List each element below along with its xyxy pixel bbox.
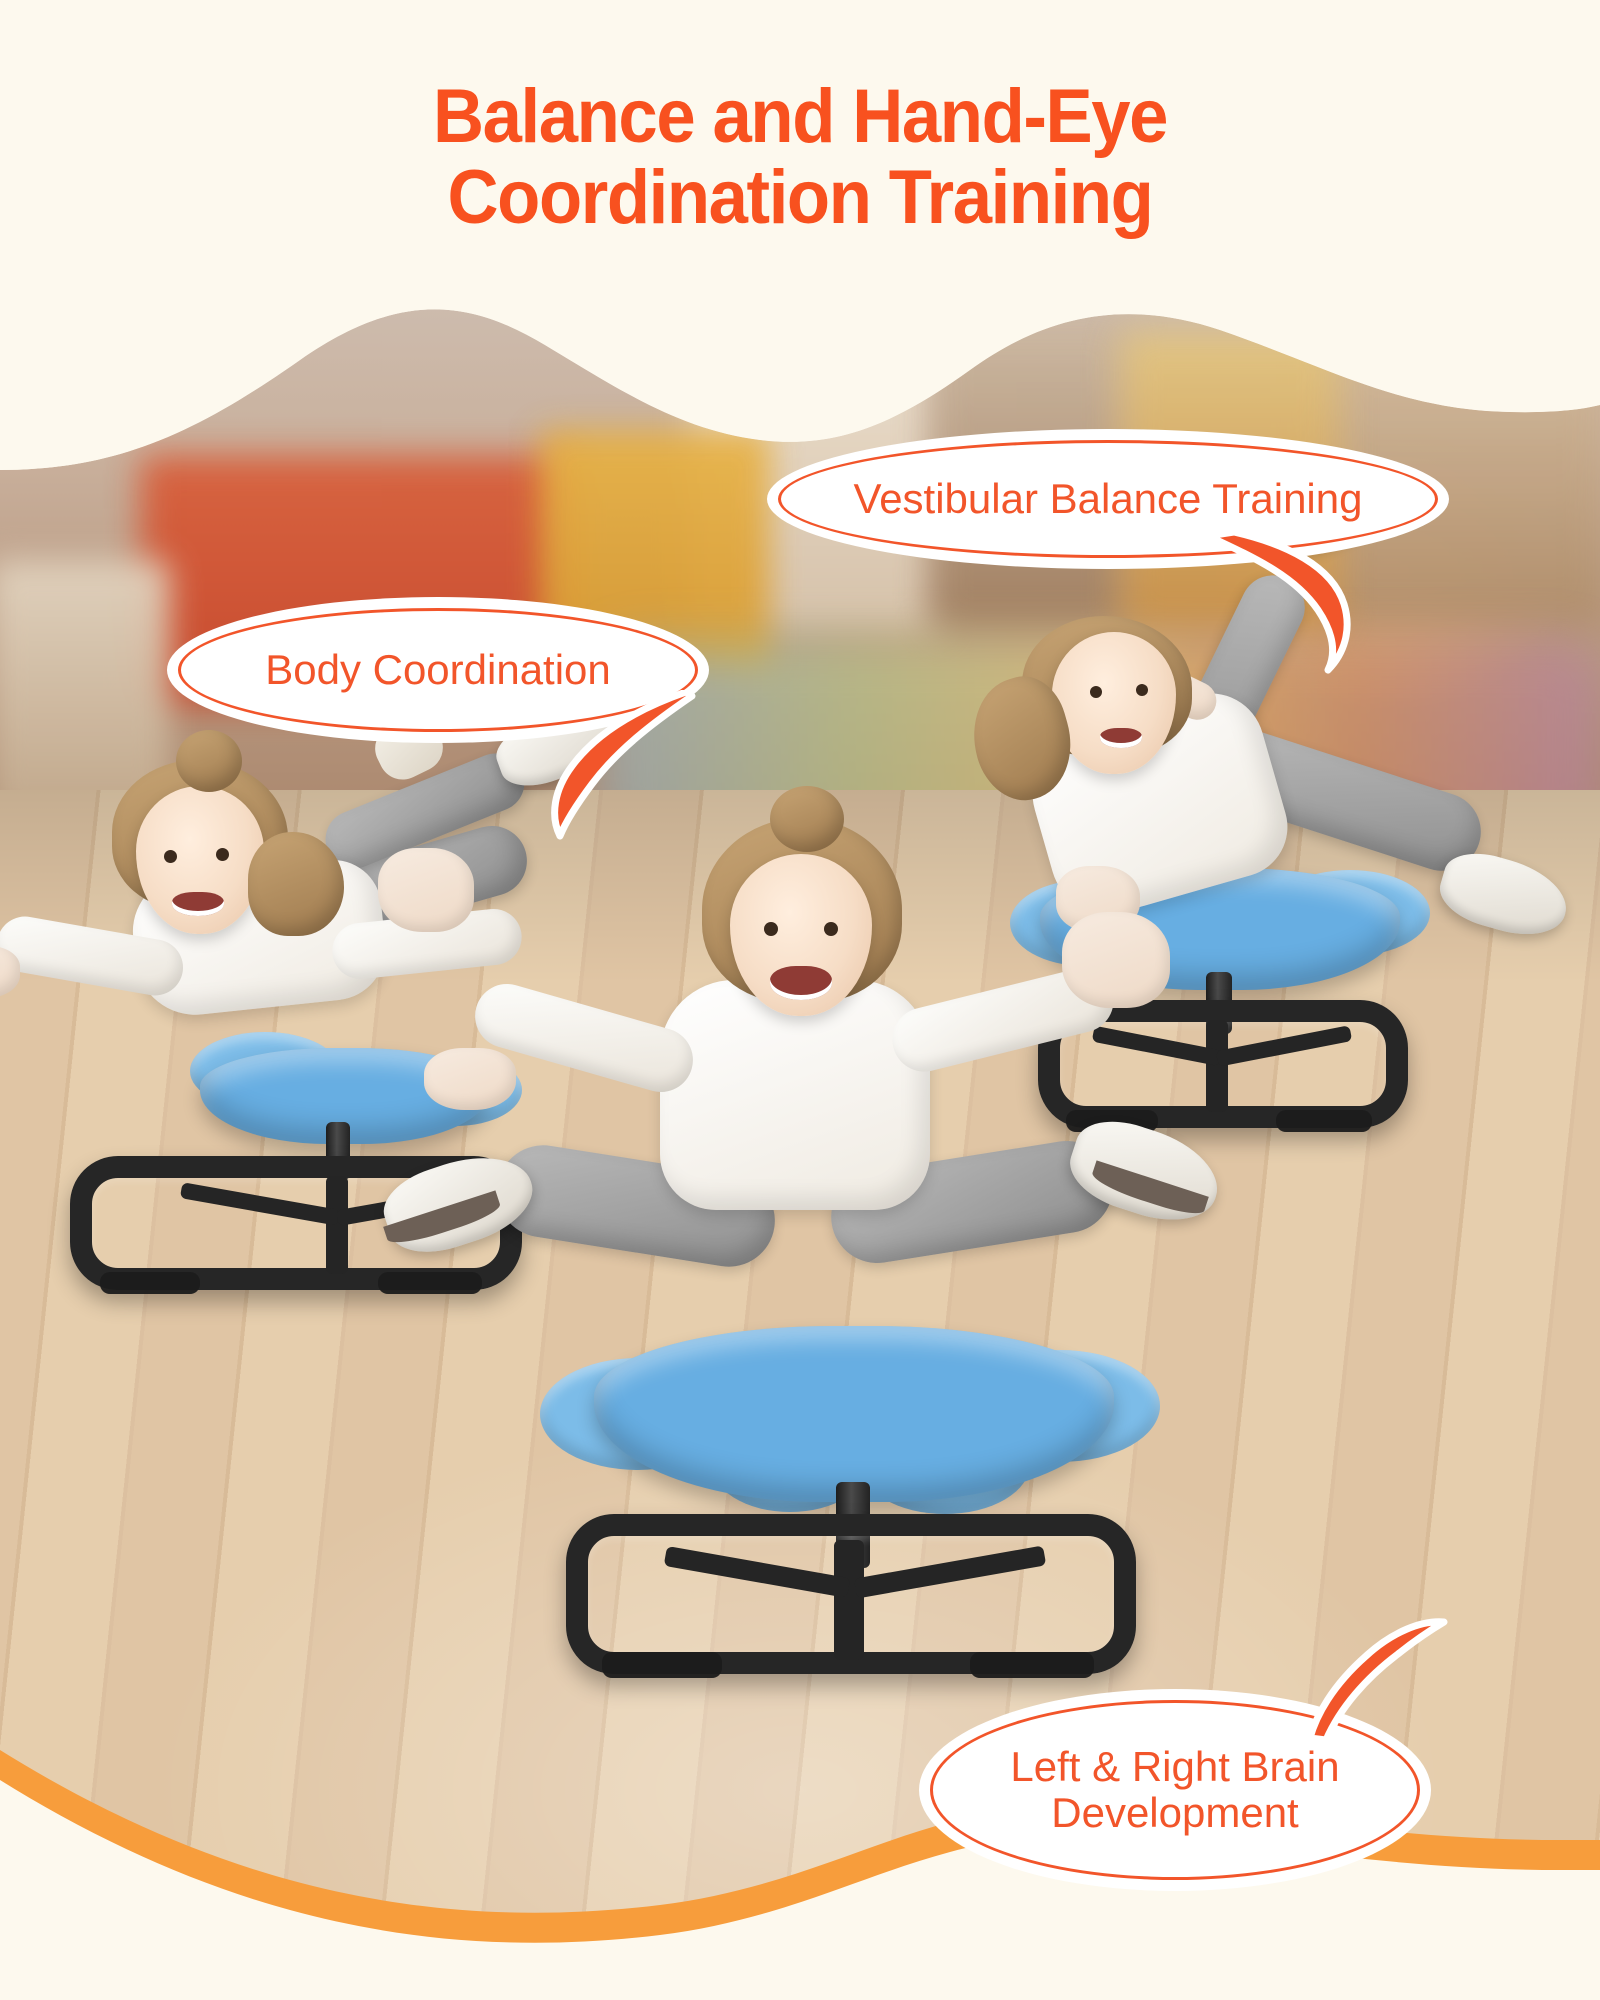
callout-label: Body Coordination: [247, 647, 629, 693]
product-marketing-banner: Balance and Hand-Eye Coordination Traini…: [0, 0, 1600, 2000]
child-center: [430, 830, 1190, 1390]
title-line-2: Coordination Training: [56, 157, 1544, 238]
base-foot: [602, 1652, 722, 1678]
base-foot: [970, 1652, 1094, 1678]
child-hand-open: [1062, 912, 1170, 1008]
child-eye: [1136, 684, 1148, 696]
child-shoe: [1433, 844, 1575, 947]
child-eye: [164, 850, 177, 863]
base-spoke: [834, 1540, 864, 1660]
title-line-1: Balance and Hand-Eye: [56, 76, 1544, 157]
callout-label: Left & Right BrainDevelopment: [992, 1744, 1357, 1836]
child-mouth: [172, 892, 224, 916]
child-eye: [1090, 686, 1102, 698]
child-hand: [424, 1048, 516, 1110]
child-eye: [216, 848, 229, 861]
child-eye: [824, 922, 838, 936]
callout-vestibular-balance-training[interactable]: Vestibular Balance Training: [778, 440, 1438, 558]
child-hair-back: [248, 832, 344, 936]
child-mouth: [1100, 728, 1142, 748]
lifestyle-photo: [0, 0, 1600, 2000]
child-mouth: [770, 966, 832, 1000]
child-ponytail: [176, 730, 242, 792]
base-foot: [100, 1272, 200, 1294]
page-title: Balance and Hand-Eye Coordination Traini…: [0, 76, 1600, 239]
callout-line-2: Development: [1051, 1789, 1298, 1836]
child-ponytail: [770, 786, 844, 852]
callout-body-coordination[interactable]: Body Coordination: [178, 608, 698, 732]
callout-left-right-brain-development[interactable]: Left & Right BrainDevelopment: [930, 1700, 1420, 1880]
callout-label: Vestibular Balance Training: [836, 476, 1381, 522]
callout-line-1: Left & Right Brain: [1010, 1743, 1339, 1790]
child-eye: [764, 922, 778, 936]
